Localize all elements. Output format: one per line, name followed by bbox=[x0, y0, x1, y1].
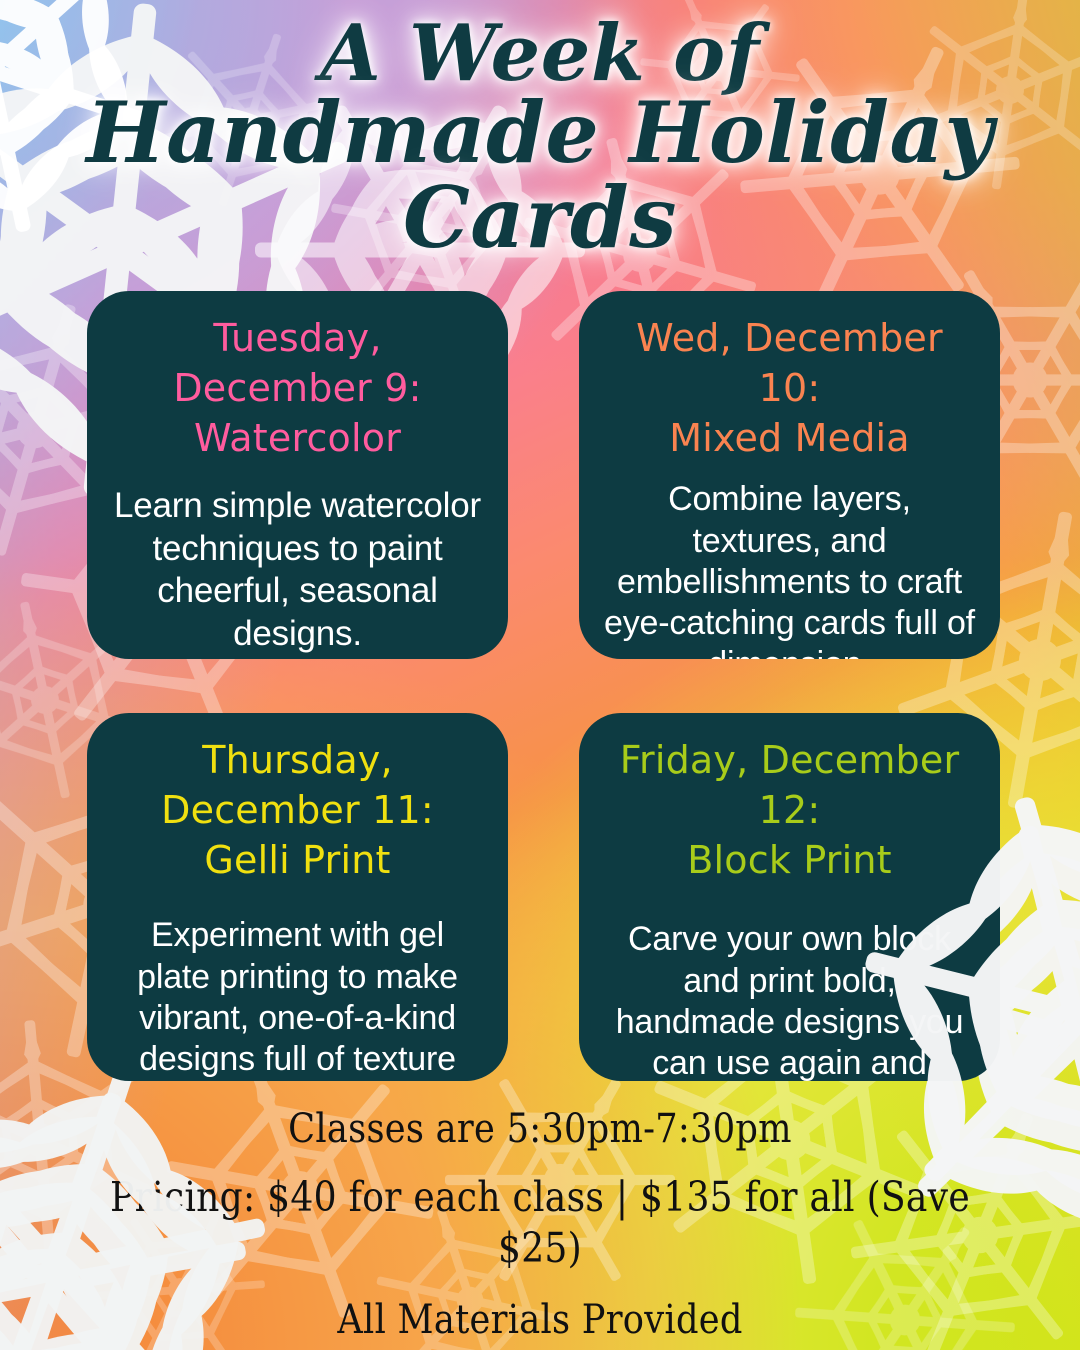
card-body-gelli-print: Experiment with gel plate printing to ma… bbox=[111, 915, 484, 1081]
card-heading-line-1: Wed, December 10: bbox=[636, 316, 943, 410]
card-heading-line-1: Friday, December 12: bbox=[620, 738, 960, 832]
class-card-gelli-print: Thursday, December 11: Gelli Print Exper… bbox=[87, 713, 508, 1081]
card-heading-line-1: Thursday, December 11: bbox=[161, 738, 434, 832]
title-line-2: Handmade Holiday Cards bbox=[0, 90, 1080, 261]
footer-pricing: Pricing: $40 for each class | $135 for a… bbox=[65, 1172, 1015, 1275]
card-heading-line-2: Block Print bbox=[687, 838, 891, 882]
card-heading-block-print: Friday, December 12: Block Print bbox=[603, 735, 976, 885]
card-body-block-print: Carve your own block and print bold, han… bbox=[603, 919, 976, 1081]
footer-class-times: Classes are 5:30pm-7:30pm bbox=[65, 1104, 1015, 1154]
card-heading-mixed-media: Wed, December 10: Mixed Media bbox=[603, 313, 976, 463]
card-body-watercolor: Learn simple watercolor techniques to pa… bbox=[111, 485, 484, 654]
card-heading-line-1: Tuesday, December 9: bbox=[173, 316, 421, 410]
card-heading-line-2: Watercolor bbox=[194, 416, 401, 460]
card-heading-watercolor: Tuesday, December 9: Watercolor bbox=[111, 313, 484, 463]
class-card-block-print: Friday, December 12: Block Print Carve y… bbox=[579, 713, 1000, 1081]
footer-materials-note: All Materials Provided bbox=[65, 1295, 1015, 1345]
poster-canvas: A Week of Handmade Holiday Cards Tuesday… bbox=[0, 0, 1080, 1350]
poster-title: A Week of Handmade Holiday Cards bbox=[0, 14, 1080, 261]
class-card-grid: Tuesday, December 9: Watercolor Learn si… bbox=[87, 291, 1000, 1081]
card-heading-line-2: Mixed Media bbox=[669, 416, 910, 460]
card-heading-gelli-print: Thursday, December 11: Gelli Print bbox=[111, 735, 484, 885]
class-card-watercolor: Tuesday, December 9: Watercolor Learn si… bbox=[87, 291, 508, 659]
card-body-mixed-media: Combine layers, textures, and embellishm… bbox=[603, 479, 976, 659]
class-card-mixed-media: Wed, December 10: Mixed Media Combine la… bbox=[579, 291, 1000, 659]
title-line-1: A Week of bbox=[0, 14, 1080, 94]
card-heading-line-2: Gelli Print bbox=[204, 838, 390, 882]
poster-footer: Classes are 5:30pm-7:30pm Pricing: $40 f… bbox=[0, 1104, 1080, 1345]
